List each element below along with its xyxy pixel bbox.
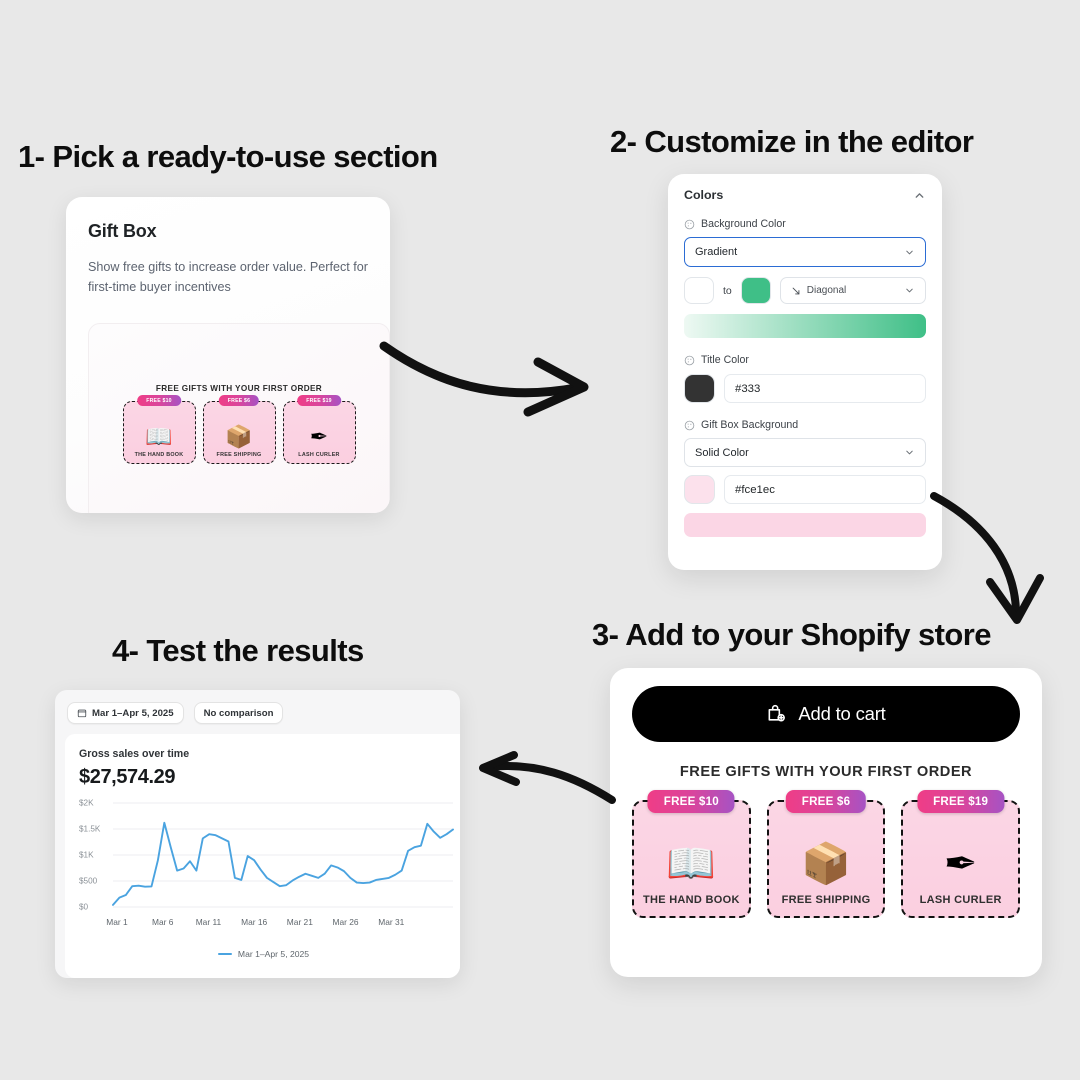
gift-badge: FREE $10 (648, 790, 735, 813)
gift-box-color-preview-bar (684, 513, 926, 537)
legend-swatch (218, 953, 232, 955)
gift-box-background-select-value: Solid Color (695, 447, 749, 459)
infographic-stage: 1- Pick a ready-to-use section 2- Custom… (0, 0, 1080, 1080)
gradient-direction-value: Diagonal (807, 285, 846, 296)
comparison-picker[interactable]: No comparison (194, 702, 284, 724)
gradient-to-swatch[interactable] (741, 277, 771, 304)
gift-box-background-label-row: Gift Box Background (684, 419, 926, 431)
mini-gift-label: LASH CURLER (298, 452, 339, 458)
chart-total-value: $27,574.29 (79, 766, 460, 789)
step-4-title: 4- Test the results (112, 633, 364, 669)
background-color-select-value: Gradient (695, 246, 737, 258)
calendar-icon (77, 708, 87, 718)
title-color-swatch[interactable] (684, 374, 715, 403)
mini-gift-badge: FREE $10 (137, 395, 181, 406)
comparison-label: No comparison (204, 708, 274, 719)
gift-box-background-select[interactable]: Solid Color (684, 438, 926, 467)
chevron-down-icon (904, 247, 915, 258)
mascara-icon: ✒ (310, 426, 328, 448)
cart-plus-icon (766, 704, 786, 724)
gradient-direction-select[interactable]: Diagonal (780, 277, 926, 304)
gift-badge: FREE $19 (917, 790, 1004, 813)
title-color-label-row: Title Color (684, 354, 926, 366)
title-color-row: #333 (684, 374, 926, 403)
chevron-down-icon (904, 447, 915, 458)
step-2-title: 2- Customize in the editor (610, 124, 973, 160)
y-tick-label: $0 (79, 903, 88, 912)
section-card-description: Show free gifts to increase order value.… (88, 258, 368, 297)
background-color-label: Background Color (701, 218, 786, 230)
section-preview-card[interactable]: Gift Box Show free gifts to increase ord… (66, 197, 390, 513)
section-card-title: Gift Box (88, 221, 368, 242)
chevron-up-icon[interactable] (913, 189, 926, 202)
editor-panel[interactable]: Colors Background Color Gradient to Diag… (668, 174, 942, 570)
chart-plot-area: $2K$1.5K$1K$500$0 Mar 1Mar 6Mar 11Mar 16… (79, 795, 459, 937)
analytics-card: Mar 1–Apr 5, 2025 No comparison Gross sa… (55, 690, 460, 978)
gift-card[interactable]: FREE $19 ✒ LASH CURLER (901, 800, 1020, 918)
mascara-icon: ✒ (944, 844, 978, 884)
gradient-from-swatch[interactable] (684, 277, 714, 304)
mini-gift-label: FREE SHIPPING (217, 452, 262, 458)
date-range-picker[interactable]: Mar 1–Apr 5, 2025 (67, 702, 184, 724)
diagonal-arrow-icon (791, 286, 801, 296)
gift-label: FREE SHIPPING (782, 894, 871, 906)
x-tick-label: Mar 11 (196, 917, 221, 927)
store-gift-row: FREE $10 📖 THE HAND BOOK FREE $6 📦 FREE … (632, 800, 1020, 918)
y-tick-label: $2K (79, 799, 94, 808)
mini-gift-label: THE HAND BOOK (135, 452, 184, 458)
mini-gift-badge: FREE $6 (219, 395, 259, 406)
add-to-cart-label: Add to cart (798, 703, 885, 725)
store-gifts-heading: FREE GIFTS WITH YOUR FIRST ORDER (632, 764, 1020, 780)
storefront-preview-card: Add to cart FREE GIFTS WITH YOUR FIRST O… (610, 668, 1042, 977)
gift-badge: FREE $6 (786, 790, 866, 813)
title-color-input[interactable]: #333 (724, 374, 926, 403)
y-tick-label: $1K (79, 851, 94, 860)
line-chart-svg (79, 795, 459, 937)
gift-label: LASH CURLER (920, 894, 1002, 906)
editor-panel-header[interactable]: Colors (684, 188, 926, 202)
gift-label: THE HAND BOOK (643, 894, 740, 906)
gift-card[interactable]: FREE $10 📖 THE HAND BOOK (632, 800, 751, 918)
x-tick-label: Mar 6 (152, 917, 173, 927)
book-icon: 📖 (666, 844, 716, 884)
title-color-label: Title Color (701, 354, 749, 366)
title-color-value: #333 (735, 383, 760, 395)
y-tick-label: $1.5K (79, 825, 100, 834)
gift-box-color-input[interactable]: #fce1ec (724, 475, 926, 504)
mini-gifts-heading: FREE GIFTS WITH YOUR FIRST ORDER (89, 384, 389, 393)
gift-box-color-row: #fce1ec (684, 475, 926, 504)
analytics-filter-row: Mar 1–Apr 5, 2025 No comparison (55, 690, 460, 724)
legend-label: Mar 1–Apr 5, 2025 (238, 949, 309, 959)
gift-box-background-label: Gift Box Background (701, 419, 798, 431)
mini-gift-card[interactable]: FREE $6 📦 FREE SHIPPING (203, 401, 276, 464)
y-tick-label: $500 (79, 877, 97, 886)
section-card-preview: FREE GIFTS WITH YOUR FIRST ORDER FREE $1… (88, 323, 390, 513)
gradient-stops-row: to Diagonal (684, 277, 926, 304)
x-tick-label: Mar 21 (287, 917, 313, 927)
x-tick-label: Mar 16 (241, 917, 267, 927)
gift-box-color-value: #fce1ec (735, 484, 775, 496)
chart-title: Gross sales over time (79, 748, 460, 760)
gift-box-color-swatch[interactable] (684, 475, 715, 504)
palette-icon (684, 355, 695, 366)
step-1-title: 1- Pick a ready-to-use section (18, 139, 438, 175)
chart-legend: Mar 1–Apr 5, 2025 (79, 949, 448, 959)
mini-gift-card[interactable]: FREE $10 📖 THE HAND BOOK (123, 401, 196, 464)
mini-gift-card[interactable]: FREE $19 ✒ LASH CURLER (283, 401, 356, 464)
background-color-select[interactable]: Gradient (684, 237, 926, 267)
arrow-step2-to-step3 (928, 490, 1048, 630)
palette-icon (684, 219, 695, 230)
mini-gift-badge: FREE $19 (297, 395, 341, 406)
gradient-preview-bar (684, 314, 926, 338)
palette-icon (684, 420, 695, 431)
arrow-step1-to-step2 (378, 340, 608, 430)
x-tick-label: Mar 1 (106, 917, 127, 927)
book-icon: 📖 (145, 426, 172, 448)
add-to-cart-button[interactable]: Add to cart (632, 686, 1020, 742)
chevron-down-icon (904, 285, 915, 296)
editor-panel-title: Colors (684, 188, 723, 202)
package-icon: 📦 (225, 426, 252, 448)
package-icon: 📦 (801, 844, 851, 884)
arrow-step3-to-step4 (478, 752, 618, 812)
gradient-to-label: to (723, 285, 732, 297)
date-range-label: Mar 1–Apr 5, 2025 (92, 708, 174, 719)
gift-card[interactable]: FREE $6 📦 FREE SHIPPING (767, 800, 886, 918)
background-color-label-row: Background Color (684, 218, 926, 230)
x-tick-label: Mar 26 (333, 917, 359, 927)
gross-sales-chart-panel: Gross sales over time $27,574.29 $2K$1.5… (65, 734, 460, 978)
mini-gift-row: FREE $10 📖 THE HAND BOOK FREE $6 📦 FREE … (89, 401, 389, 464)
x-tick-label: Mar 31 (378, 917, 404, 927)
